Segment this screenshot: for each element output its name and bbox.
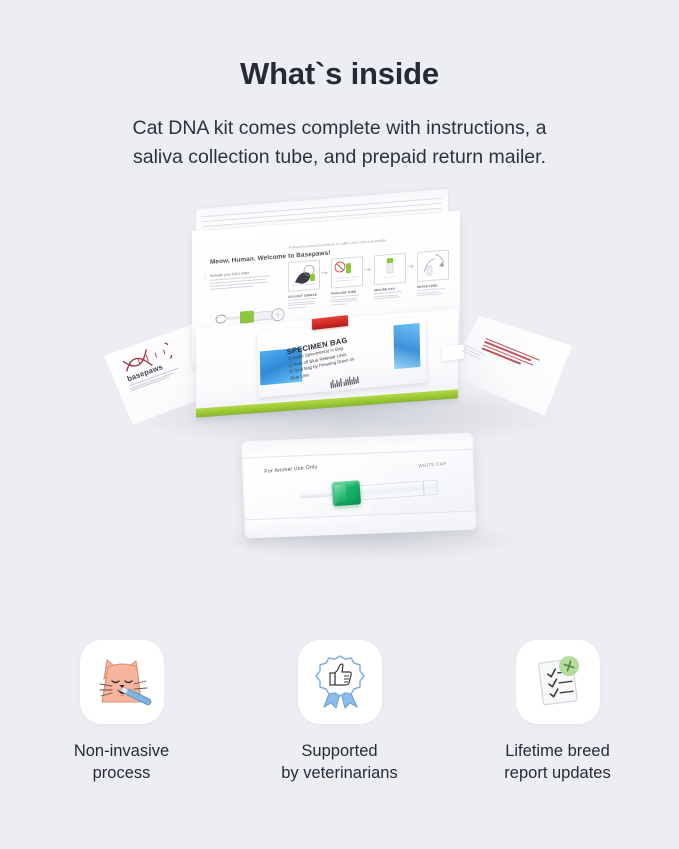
feature-label-line2: report updates: [504, 764, 610, 782]
step-4-body: [417, 287, 447, 295]
secure-cap-icon: [375, 254, 405, 284]
feature-label-line2: by veterinarians: [281, 764, 397, 782]
feature-icon-tile: [516, 640, 600, 724]
page-header: What`s inside Cat DNA kit comes complete…: [0, 0, 679, 173]
booklet-arrow-2: [364, 268, 371, 270]
step-1-body: [288, 297, 318, 308]
feature-lifetime-updates: Lifetime breed report updates: [483, 640, 633, 785]
product-photo: basepaws Meow, Human. Welcome to Basepaw…: [0, 191, 679, 601]
feature-icon-tile: [80, 640, 164, 724]
booklet-step-3: SECURE CAP: [374, 253, 404, 299]
feature-label-line1: Non-invasive: [74, 742, 169, 760]
booklet-arrow-3: [407, 265, 414, 267]
feature-label-line1: Supported: [301, 742, 377, 760]
page-title: What`s inside: [0, 55, 679, 92]
booklet-left-column: Activate your Cat's order: [210, 269, 272, 292]
booklet-step-number: 1: [204, 274, 206, 279]
feature-vet-supported: Supported by veterinarians: [265, 640, 415, 785]
cat-swab-icon: [92, 653, 152, 711]
sealed-pouch: For Animal Use Only WHITE CAP: [241, 432, 477, 538]
booklet-step-1: COLLECT SAMPLE: [288, 259, 318, 308]
step-3-body: [374, 291, 404, 299]
feature-non-invasive: Non-invasive process: [47, 640, 197, 785]
shake-tube-icon: [418, 250, 448, 280]
feature-label: Supported by veterinarians: [265, 740, 415, 785]
feature-label-line2: process: [93, 764, 151, 782]
booklet-step-2: PACKAGE TUBE: [331, 256, 361, 305]
package-tube-icon: [332, 257, 362, 287]
box-flap-right: [447, 316, 572, 416]
step-1-illustration: [288, 259, 320, 291]
checklist-document-plus-icon: [530, 653, 586, 711]
feature-label-line1: Lifetime breed: [505, 742, 610, 760]
booklet-subtitle: Follow the instructions below to collect…: [289, 238, 386, 249]
feature-icon-tile: [298, 640, 382, 724]
specimen-bag-label: SPECIMEN BAG 1) Insert Specimen(s) in Ba…: [286, 324, 409, 382]
specimen-bag-barcode: [330, 371, 383, 388]
step-2-body: [331, 294, 361, 305]
feature-list: Non-invasive process Supported by veteri…: [0, 640, 679, 785]
booklet-step-4: SHAKE TUBE: [417, 249, 447, 295]
tube-green-cap: [331, 480, 361, 506]
page-subheading: Cat DNA kit comes complete with instruct…: [130, 114, 550, 173]
award-ribbon-thumbs-up-icon: [311, 653, 369, 711]
step-3-illustration: [374, 253, 406, 285]
feature-label: Lifetime breed report updates: [483, 740, 633, 785]
pouch-label-right: WHITE CAP: [418, 461, 447, 469]
feature-label: Non-invasive process: [47, 740, 197, 785]
tube-cap-highlight: [335, 484, 347, 503]
step-4-illustration: [417, 249, 449, 281]
booklet-arrow-1: [321, 272, 328, 274]
step-2-illustration: [331, 256, 363, 288]
collect-sample-icon: [289, 260, 319, 290]
